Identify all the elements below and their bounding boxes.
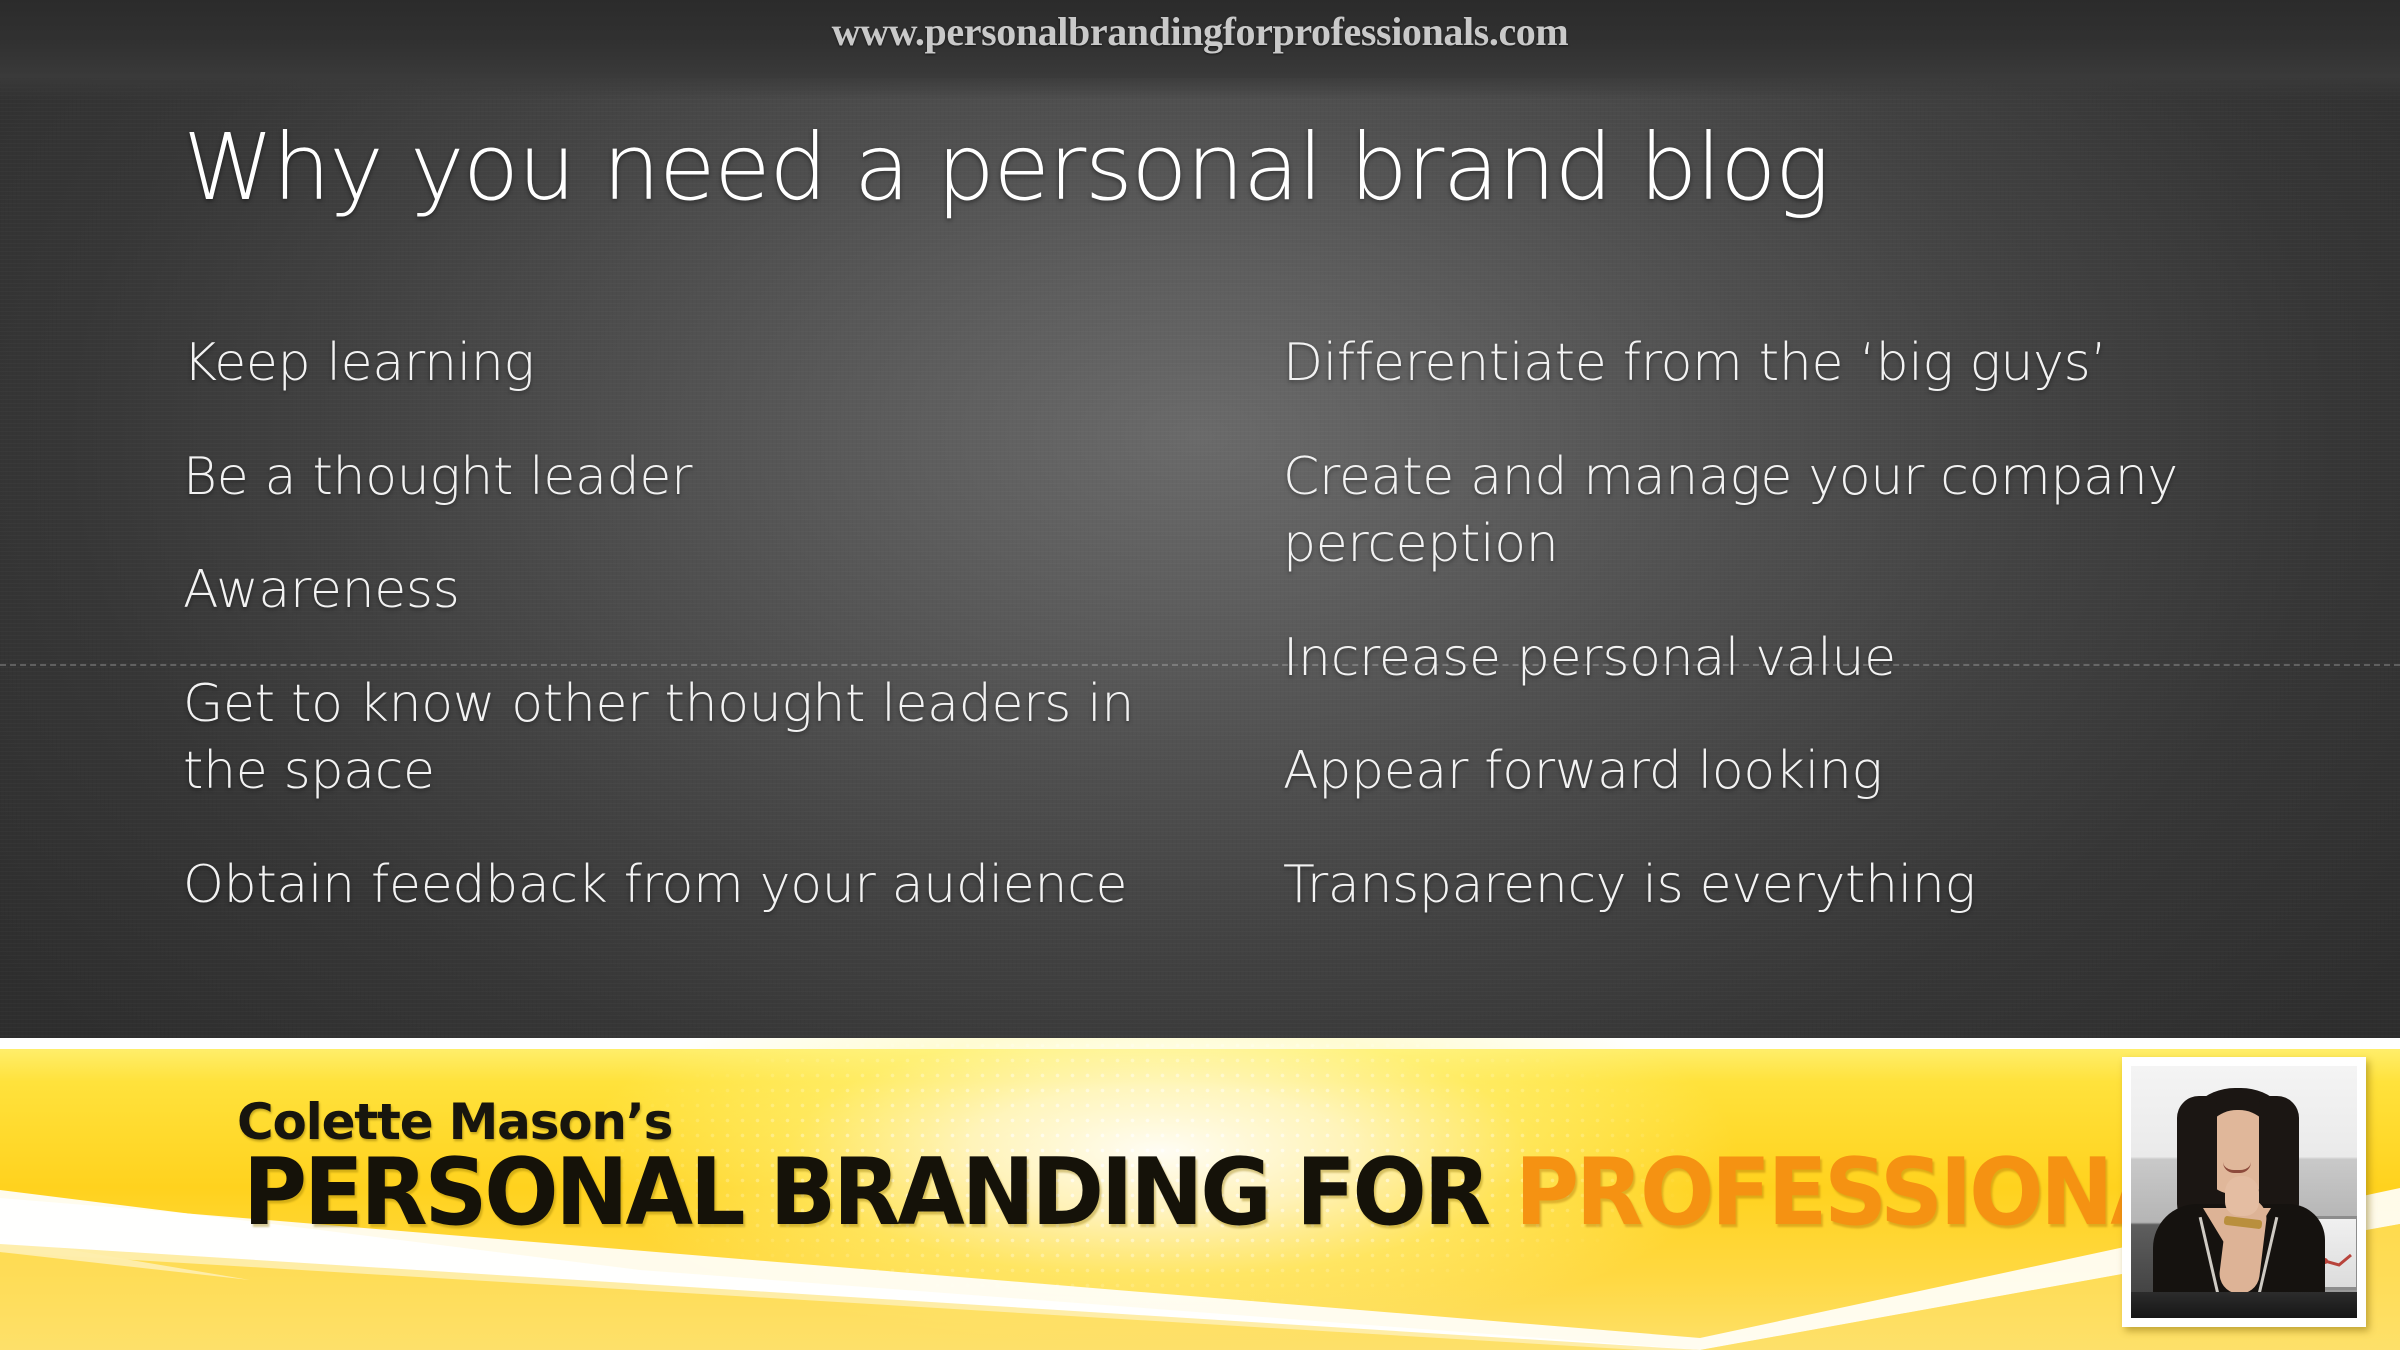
list-item: Increase personal value [1283,625,2343,693]
banner-headline: PERSONAL BRANDING FOR PROFESSIONALS [243,1138,2287,1246]
header-shade-fade [0,74,2400,100]
footer-banner: Colette Mason’s PERSONAL BRANDING FOR PR… [0,1038,2400,1350]
bullet-column-right: Differentiate from the ‘big guys’ Create… [1283,330,2343,920]
list-item: Appear forward looking [1283,738,2343,806]
hand-shape [2225,1176,2259,1216]
slide-content-area: www.personalbrandingforprofessionals.com… [0,0,2400,1040]
list-item: Create and manage your company perceptio… [1283,444,2343,579]
site-url: www.personalbrandingforprofessionals.com [0,8,2400,55]
portrait-frame [2122,1057,2366,1327]
list-item: Awareness [183,557,1203,625]
page-title: Why you need a personal brand blog [183,120,1829,217]
list-item: Get to know other thought leaders in the… [183,671,1203,806]
bullet-column-left: Keep learning Be a thought leader Awaren… [183,330,1203,920]
avatar [2131,1066,2357,1318]
list-item: Obtain feedback from your audience [183,852,1203,920]
list-item: Differentiate from the ‘big guys’ [1283,330,2343,398]
list-item: Transparency is everything [1283,852,2343,920]
presentation-slide: www.personalbrandingforprofessionals.com… [0,0,2400,1350]
list-item: Keep learning [183,330,1203,398]
list-item: Be a thought leader [183,444,1203,512]
desk-shape [2131,1292,2357,1318]
banner-headline-primary: PERSONAL BRANDING FOR [243,1138,1515,1246]
